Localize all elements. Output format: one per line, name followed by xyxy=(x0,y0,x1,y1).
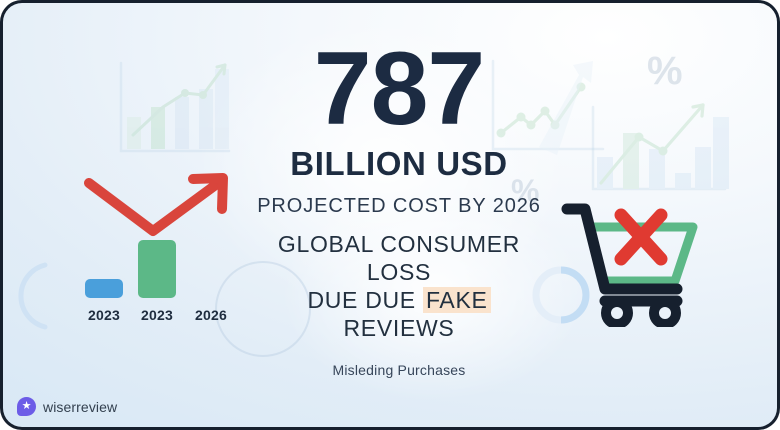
brand-footer: ★ wiserreview xyxy=(17,397,117,416)
body-text-after: REVIEWS xyxy=(344,315,455,341)
decorative-ring-left-arc xyxy=(5,259,53,333)
bar-2023-a xyxy=(85,279,123,298)
red-x-icon xyxy=(621,215,661,259)
main-bar-chart: 2023 2023 2026 xyxy=(75,171,255,331)
bar-label-2026: 2026 xyxy=(187,307,235,323)
shopping-cart-rejected-icon xyxy=(559,197,709,327)
bar-2023-b xyxy=(138,240,176,298)
headline-unit: BILLION USD xyxy=(249,147,549,181)
brand-name: wiserreview xyxy=(43,399,117,415)
background-bar-chart-top-left xyxy=(107,55,237,165)
headline-value: 787 xyxy=(249,41,549,137)
headline-block: 787 BILLION USD PROJECTED COST BY 2026 G… xyxy=(249,41,549,378)
star-badge-icon: ★ xyxy=(17,397,36,416)
body-text-before: DUE DUE xyxy=(307,287,423,313)
headline-body-line-2: DUE DUE FAKE REVIEWS xyxy=(249,286,549,342)
highlighted-term: FAKE xyxy=(423,287,491,313)
infographic-canvas: % % 2023 2023 2026 787 BILLION U xyxy=(3,3,777,427)
bar-label-2023-b: 2023 xyxy=(133,307,181,323)
background-bar-chart-right xyxy=(585,91,735,201)
headline-caption: Misleding Purchases xyxy=(249,362,549,378)
infographic-frame: % % 2023 2023 2026 787 BILLION U xyxy=(0,0,780,430)
headline-body-line-1: GLOBAL CONSUMER LOSS xyxy=(249,230,549,286)
red-trend-arrow-icon xyxy=(81,171,241,243)
bar-label-2023-a: 2023 xyxy=(80,307,128,323)
headline-subtitle: PROJECTED COST BY 2026 xyxy=(249,195,549,217)
percent-symbol-top-right: % xyxy=(647,49,682,94)
